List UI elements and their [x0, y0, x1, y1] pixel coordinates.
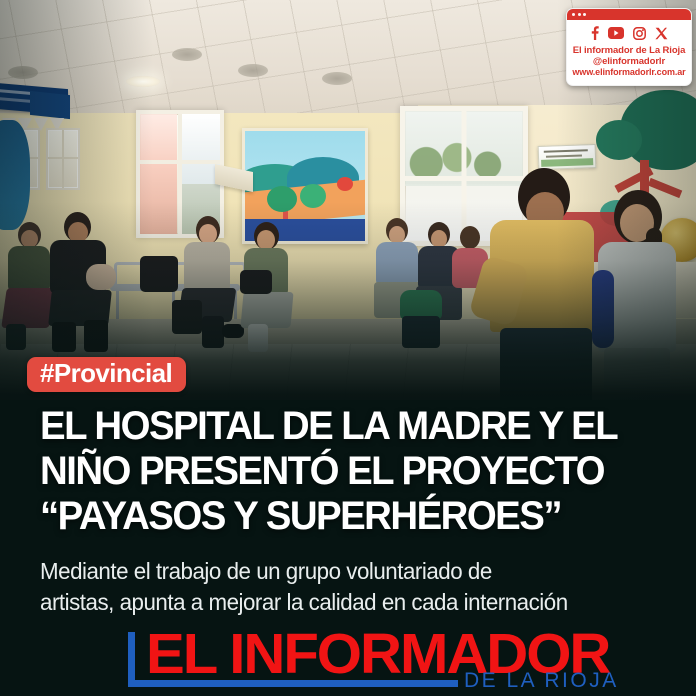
badge-url: www.elinformadorlr.com.ar: [571, 67, 687, 78]
window-left-b: [46, 128, 80, 190]
window-dot: [583, 13, 586, 16]
badge-titlebar: [567, 9, 691, 20]
ceiling-vent: [8, 66, 38, 79]
instagram-icon[interactable]: [633, 27, 646, 40]
subtitle-line-1: Mediante el trabajo de un grupo voluntar…: [40, 556, 658, 587]
youtube-icon[interactable]: [608, 27, 624, 39]
brand-logo[interactable]: EL INFORMADOR DE LA RIOJA: [0, 618, 696, 696]
bag-on-floor: [172, 300, 202, 334]
headline-line-2: NIÑO PRESENTÓ EL PROYECTO: [40, 449, 654, 494]
subtitle: Mediante el trabajo de un grupo voluntar…: [40, 556, 658, 617]
ceiling-vent: [238, 64, 268, 77]
mural-fragment-left: [0, 120, 30, 230]
category-tag[interactable]: #Provincial: [27, 357, 186, 392]
handbag: [240, 270, 272, 294]
window-dot: [572, 13, 575, 16]
logo-left-bar: [128, 632, 135, 686]
facebook-icon[interactable]: [591, 26, 599, 40]
ceiling-light: [126, 76, 160, 87]
badge-site-name: El informador de La Rioja: [571, 45, 687, 56]
news-poster: El informador de La Rioja @elinformadorl…: [0, 0, 696, 696]
standing-woman: [592, 190, 688, 420]
logo-tagline: DE LA RIOJA: [464, 669, 619, 693]
wall-poster: [538, 144, 597, 170]
subtitle-line-2: artistas, apunta a mejorar la calidad en…: [40, 587, 658, 618]
backpack: [140, 256, 178, 292]
badge-handle: @elinformadorlr: [571, 56, 687, 67]
headline-line-3: “PAYASOS Y SUPERHÉROES”: [40, 494, 654, 539]
social-icons-row: [567, 22, 691, 44]
seated-person: [400, 290, 446, 350]
ceiling-vent: [172, 48, 202, 61]
window-dot: [578, 13, 581, 16]
social-media-badge[interactable]: El informador de La Rioja @elinformadorl…: [566, 8, 692, 86]
mural-tree-canopy-small: [596, 120, 642, 160]
x-twitter-icon[interactable]: [655, 27, 668, 40]
direction-sign-secondary: [30, 91, 70, 119]
ceiling-vent: [322, 72, 352, 85]
badge-text-block: El informador de La Rioja @elinformadorl…: [567, 44, 691, 78]
seated-person: [48, 212, 128, 354]
headline-line-1: EL HOSPITAL DE LA MADRE Y EL: [40, 404, 654, 449]
headline: EL HOSPITAL DE LA MADRE Y EL NIÑO PRESEN…: [40, 404, 654, 538]
